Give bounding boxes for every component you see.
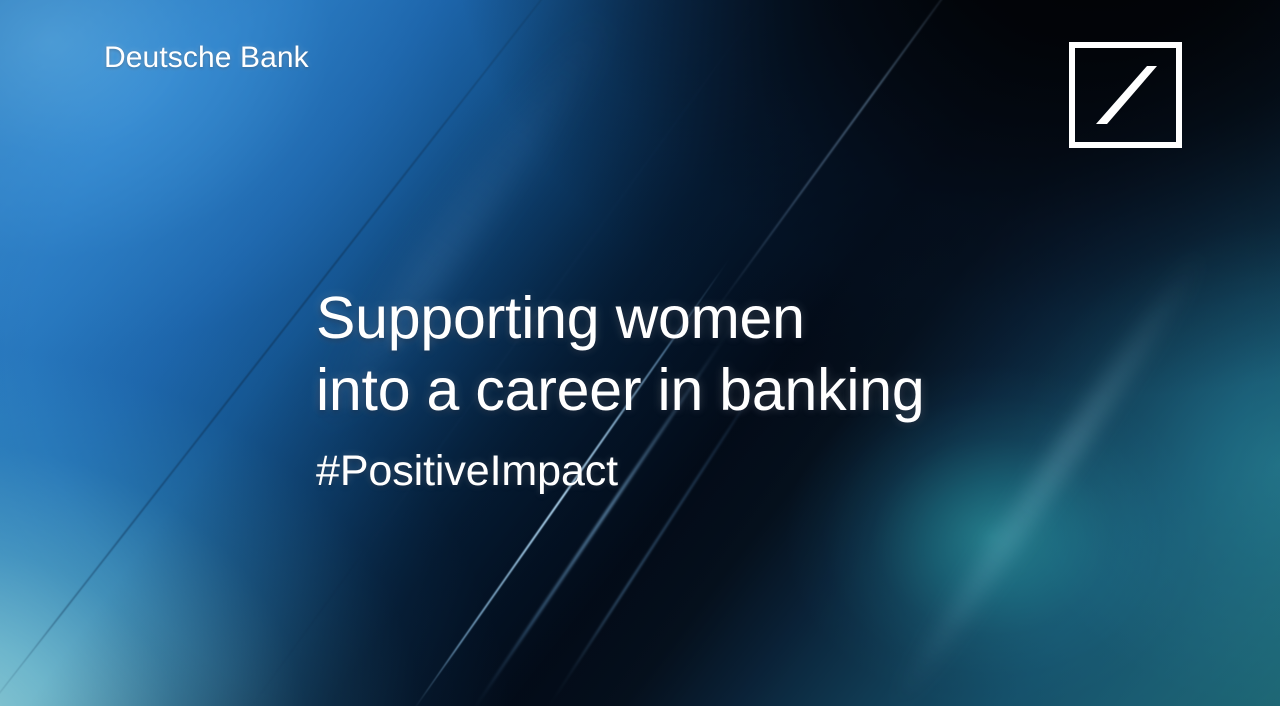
background-sheen-right — [880, 242, 1215, 706]
headline-line-1: Supporting women — [316, 282, 925, 354]
logo-slash-mark — [1096, 66, 1157, 124]
headline-line-2: into a career in banking — [316, 354, 925, 426]
campaign-hashtag: #PositiveImpact — [316, 447, 618, 496]
deutsche-bank-campaign-slide: Deutsche Bank Supporting women into a ca… — [0, 0, 1280, 706]
page-title: Supporting women into a career in bankin… — [316, 282, 925, 426]
brand-wordmark: Deutsche Bank — [104, 41, 309, 75]
deutsche-bank-logo-icon — [1069, 42, 1182, 148]
